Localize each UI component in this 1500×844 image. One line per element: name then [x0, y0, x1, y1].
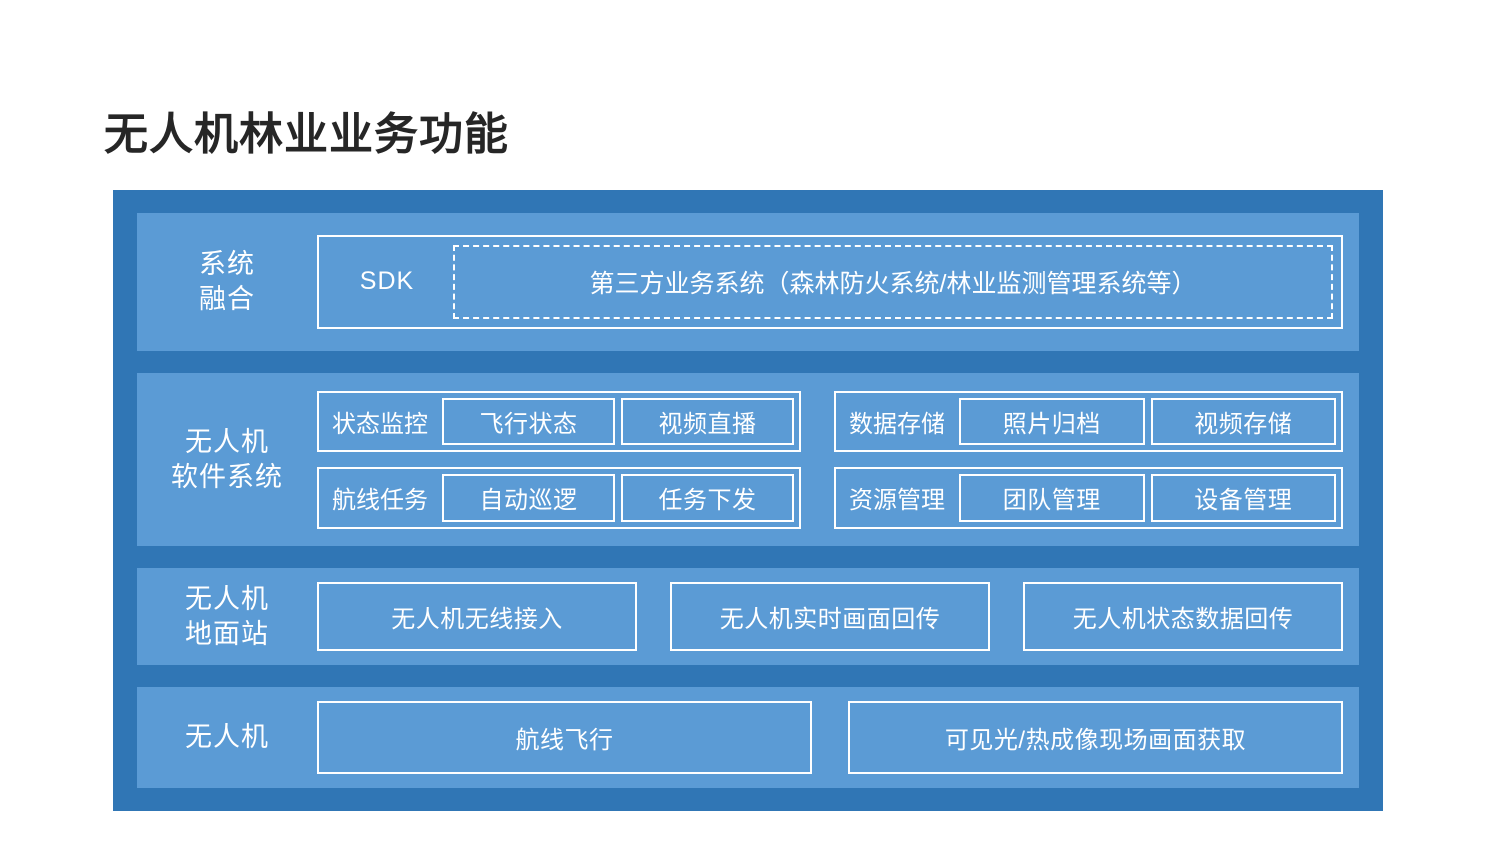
- layer-label-system-fusion: 系统 融合: [137, 213, 317, 351]
- layer-label-line-1: 无人机: [185, 720, 269, 755]
- layer-uav-software-system: 无人机 软件系统 状态监控 飞行状态 视频直播 航线任务 自动巡逻 任务下发: [137, 373, 1359, 547]
- layer-uav-ground-station: 无人机 地面站 无人机无线接入 无人机实时画面回传 无人机状态数据回传: [137, 568, 1359, 664]
- box-uav-wireless-access[interactable]: 无人机无线接入: [317, 582, 637, 650]
- third-party-system-box[interactable]: 第三方业务系统（森林防火系统/林业监测管理系统等）: [453, 245, 1333, 319]
- sdk-label: SDK: [327, 245, 447, 319]
- box-uav-realtime-video-return[interactable]: 无人机实时画面回传: [670, 582, 990, 650]
- box-photo-archive[interactable]: 照片归档: [959, 398, 1145, 445]
- box-auto-patrol[interactable]: 自动巡逻: [442, 474, 615, 521]
- group-title-resource-management: 资源管理: [841, 474, 953, 521]
- architecture-diagram: 系统 融合 SDK 第三方业务系统（森林防火系统/林业监测管理系统等） 无人机 …: [113, 190, 1383, 811]
- layer-label-line-2: 软件系统: [171, 460, 283, 495]
- software-column-right: 数据存储 照片归档 视频存储 资源管理 团队管理 设备管理: [834, 391, 1343, 529]
- group-title-data-storage: 数据存储: [841, 398, 953, 445]
- group-data-storage[interactable]: 数据存储 照片归档 视频存储: [834, 391, 1343, 452]
- layer-label-line-2: 融合: [199, 282, 255, 317]
- box-visible-thermal-capture[interactable]: 可见光/热成像现场画面获取: [848, 701, 1343, 774]
- box-team-management[interactable]: 团队管理: [959, 474, 1145, 521]
- box-video-storage[interactable]: 视频存储: [1151, 398, 1337, 445]
- page-title: 无人机林业业务功能: [104, 98, 509, 162]
- layer-body-uav-ground-station: 无人机无线接入 无人机实时画面回传 无人机状态数据回传: [317, 568, 1359, 664]
- box-device-management[interactable]: 设备管理: [1151, 474, 1337, 521]
- box-video-live[interactable]: 视频直播: [621, 398, 794, 445]
- layer-label-uav: 无人机: [137, 687, 317, 788]
- box-route-flight[interactable]: 航线飞行: [317, 701, 812, 774]
- group-title-route-task: 航线任务: [324, 474, 436, 521]
- slide-canvas: 无人机林业业务功能 系统 融合 SDK 第三方业务系统（森林防火系统/林业监测管…: [0, 0, 1500, 844]
- layer-label-line-1: 无人机: [185, 582, 269, 617]
- group-resource-management[interactable]: 资源管理 团队管理 设备管理: [834, 467, 1343, 528]
- layer-body-system-fusion: SDK 第三方业务系统（森林防火系统/林业监测管理系统等）: [317, 213, 1359, 351]
- layer-body-uav: 航线飞行 可见光/热成像现场画面获取: [317, 687, 1359, 788]
- group-status-monitoring[interactable]: 状态监控 飞行状态 视频直播: [317, 391, 801, 452]
- group-route-task[interactable]: 航线任务 自动巡逻 任务下发: [317, 467, 801, 528]
- box-task-dispatch[interactable]: 任务下发: [621, 474, 794, 521]
- layer-body-uav-software-system: 状态监控 飞行状态 视频直播 航线任务 自动巡逻 任务下发 数据存储: [317, 373, 1359, 547]
- group-title-status-monitoring: 状态监控: [324, 398, 436, 445]
- box-flight-status[interactable]: 飞行状态: [442, 398, 615, 445]
- layer-system-fusion: 系统 融合 SDK 第三方业务系统（森林防火系统/林业监测管理系统等）: [137, 213, 1359, 351]
- box-uav-status-data-return[interactable]: 无人机状态数据回传: [1023, 582, 1343, 650]
- layer-label-line-2: 地面站: [185, 617, 269, 652]
- layer-label-uav-software-system: 无人机 软件系统: [137, 373, 317, 547]
- layer-uav: 无人机 航线飞行 可见光/热成像现场画面获取: [137, 687, 1359, 788]
- layer-label-line-1: 系统: [199, 247, 255, 282]
- layer-label-line-1: 无人机: [185, 425, 269, 460]
- software-column-left: 状态监控 飞行状态 视频直播 航线任务 自动巡逻 任务下发: [317, 391, 801, 529]
- layer-label-uav-ground-station: 无人机 地面站: [137, 568, 317, 664]
- sdk-container[interactable]: SDK 第三方业务系统（森林防火系统/林业监测管理系统等）: [317, 235, 1343, 329]
